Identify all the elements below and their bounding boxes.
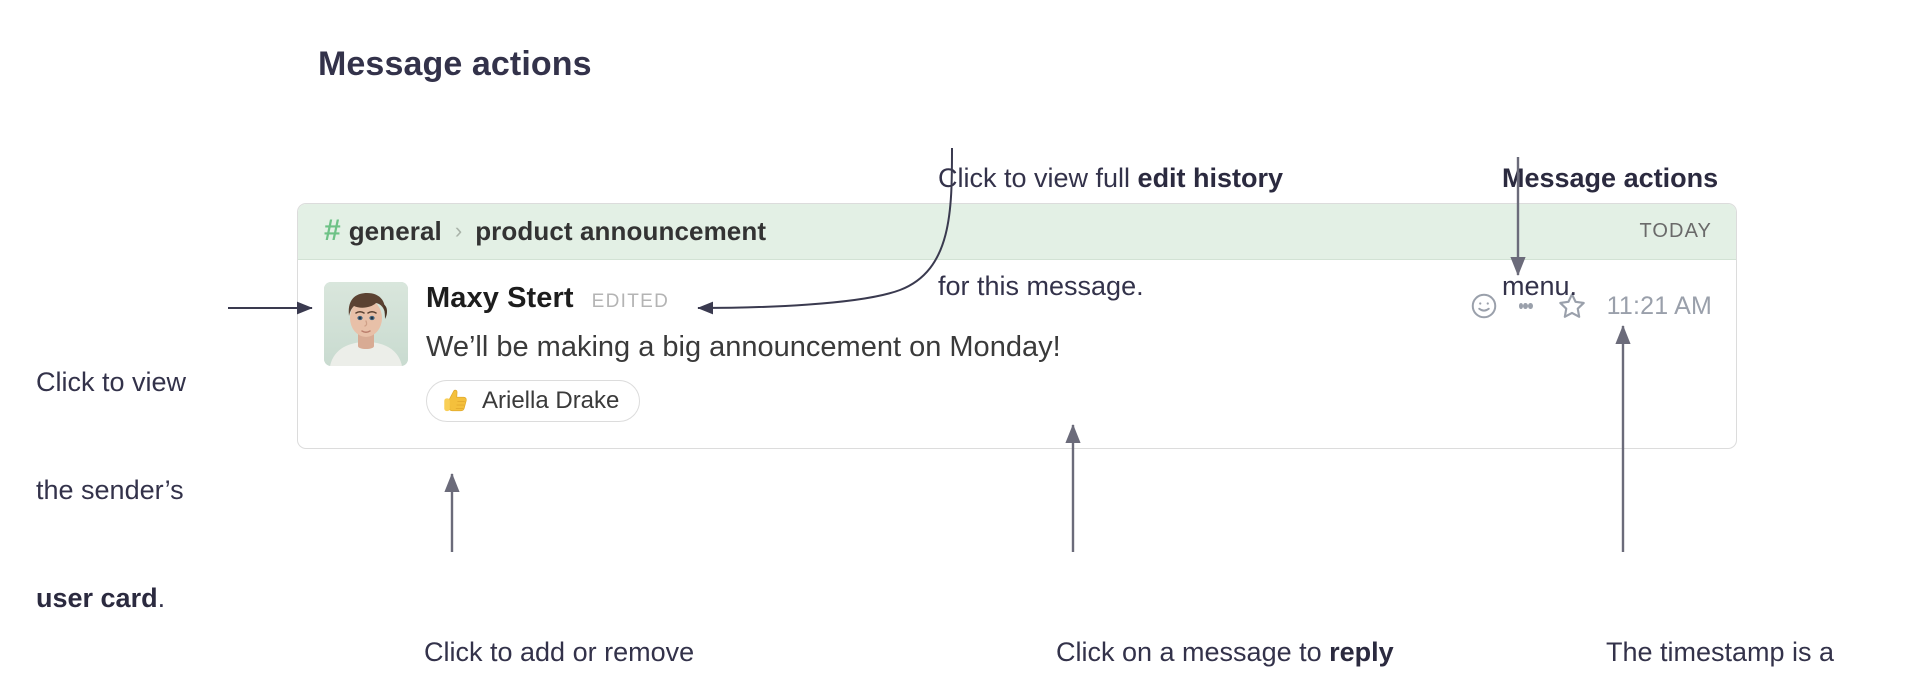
smiley-face-icon[interactable]	[1467, 289, 1501, 323]
annotation-bold: Message actions	[1502, 163, 1718, 193]
annotated-screenshot-canvas: Message actions # general › product anno…	[0, 0, 1924, 696]
annotation-line: Click to view full edit history	[938, 160, 1283, 196]
reaction-row: Ariella Drake	[426, 380, 1712, 422]
annotation-bold: edit history	[1138, 163, 1284, 193]
annotation-line: the sender’s	[36, 472, 186, 508]
annotation-bold: user card	[36, 583, 158, 613]
avatar[interactable]	[324, 282, 408, 366]
reaction-user-label: Ariella Drake	[482, 387, 619, 415]
annotation-line: Click to view	[36, 364, 186, 400]
annotation-user-card: Click to view the sender’s user card.	[36, 292, 186, 688]
breadcrumb-separator-icon: ›	[455, 218, 462, 244]
annotation-text: Click on a message to	[1056, 637, 1329, 667]
annotation-line: Click to add or remove	[424, 634, 694, 670]
hash-icon: #	[324, 216, 341, 246]
annotation-line: Message actions	[1502, 160, 1718, 196]
annotation-bold: reply	[1329, 637, 1394, 667]
annotation-line: The timestamp is a	[1606, 634, 1857, 670]
annotation-message-actions-menu: Message actions menu.	[1502, 88, 1718, 376]
annotation-timestamp-link: The timestamp is a link to the message (…	[1606, 562, 1857, 696]
annotation-edit-history: Click to view full edit history for this…	[938, 88, 1283, 376]
edited-badge[interactable]: EDITED	[592, 291, 669, 313]
stream-name[interactable]: general	[349, 216, 442, 247]
annotation-line: for this message.	[938, 268, 1283, 304]
annotation-line: menu.	[1502, 268, 1718, 304]
annotation-line: user card.	[36, 580, 186, 616]
avatar-photo	[324, 282, 408, 366]
sender-name[interactable]: Maxy Stert	[426, 282, 574, 315]
annotation-line: Click on a message to reply	[1056, 634, 1394, 670]
annotation-emoji-reactions: Click to add or remove emoji reactions.	[424, 562, 694, 696]
page-title: Message actions	[318, 42, 592, 86]
thumbs-up-icon	[441, 386, 471, 416]
topic-name[interactable]: product announcement	[475, 216, 766, 247]
annotation-reply: Click on a message to reply to the same …	[1056, 562, 1394, 696]
emoji-reaction-pill[interactable]: Ariella Drake	[426, 380, 640, 422]
annotation-text: .	[158, 583, 166, 613]
annotation-text: Click to view full	[938, 163, 1138, 193]
